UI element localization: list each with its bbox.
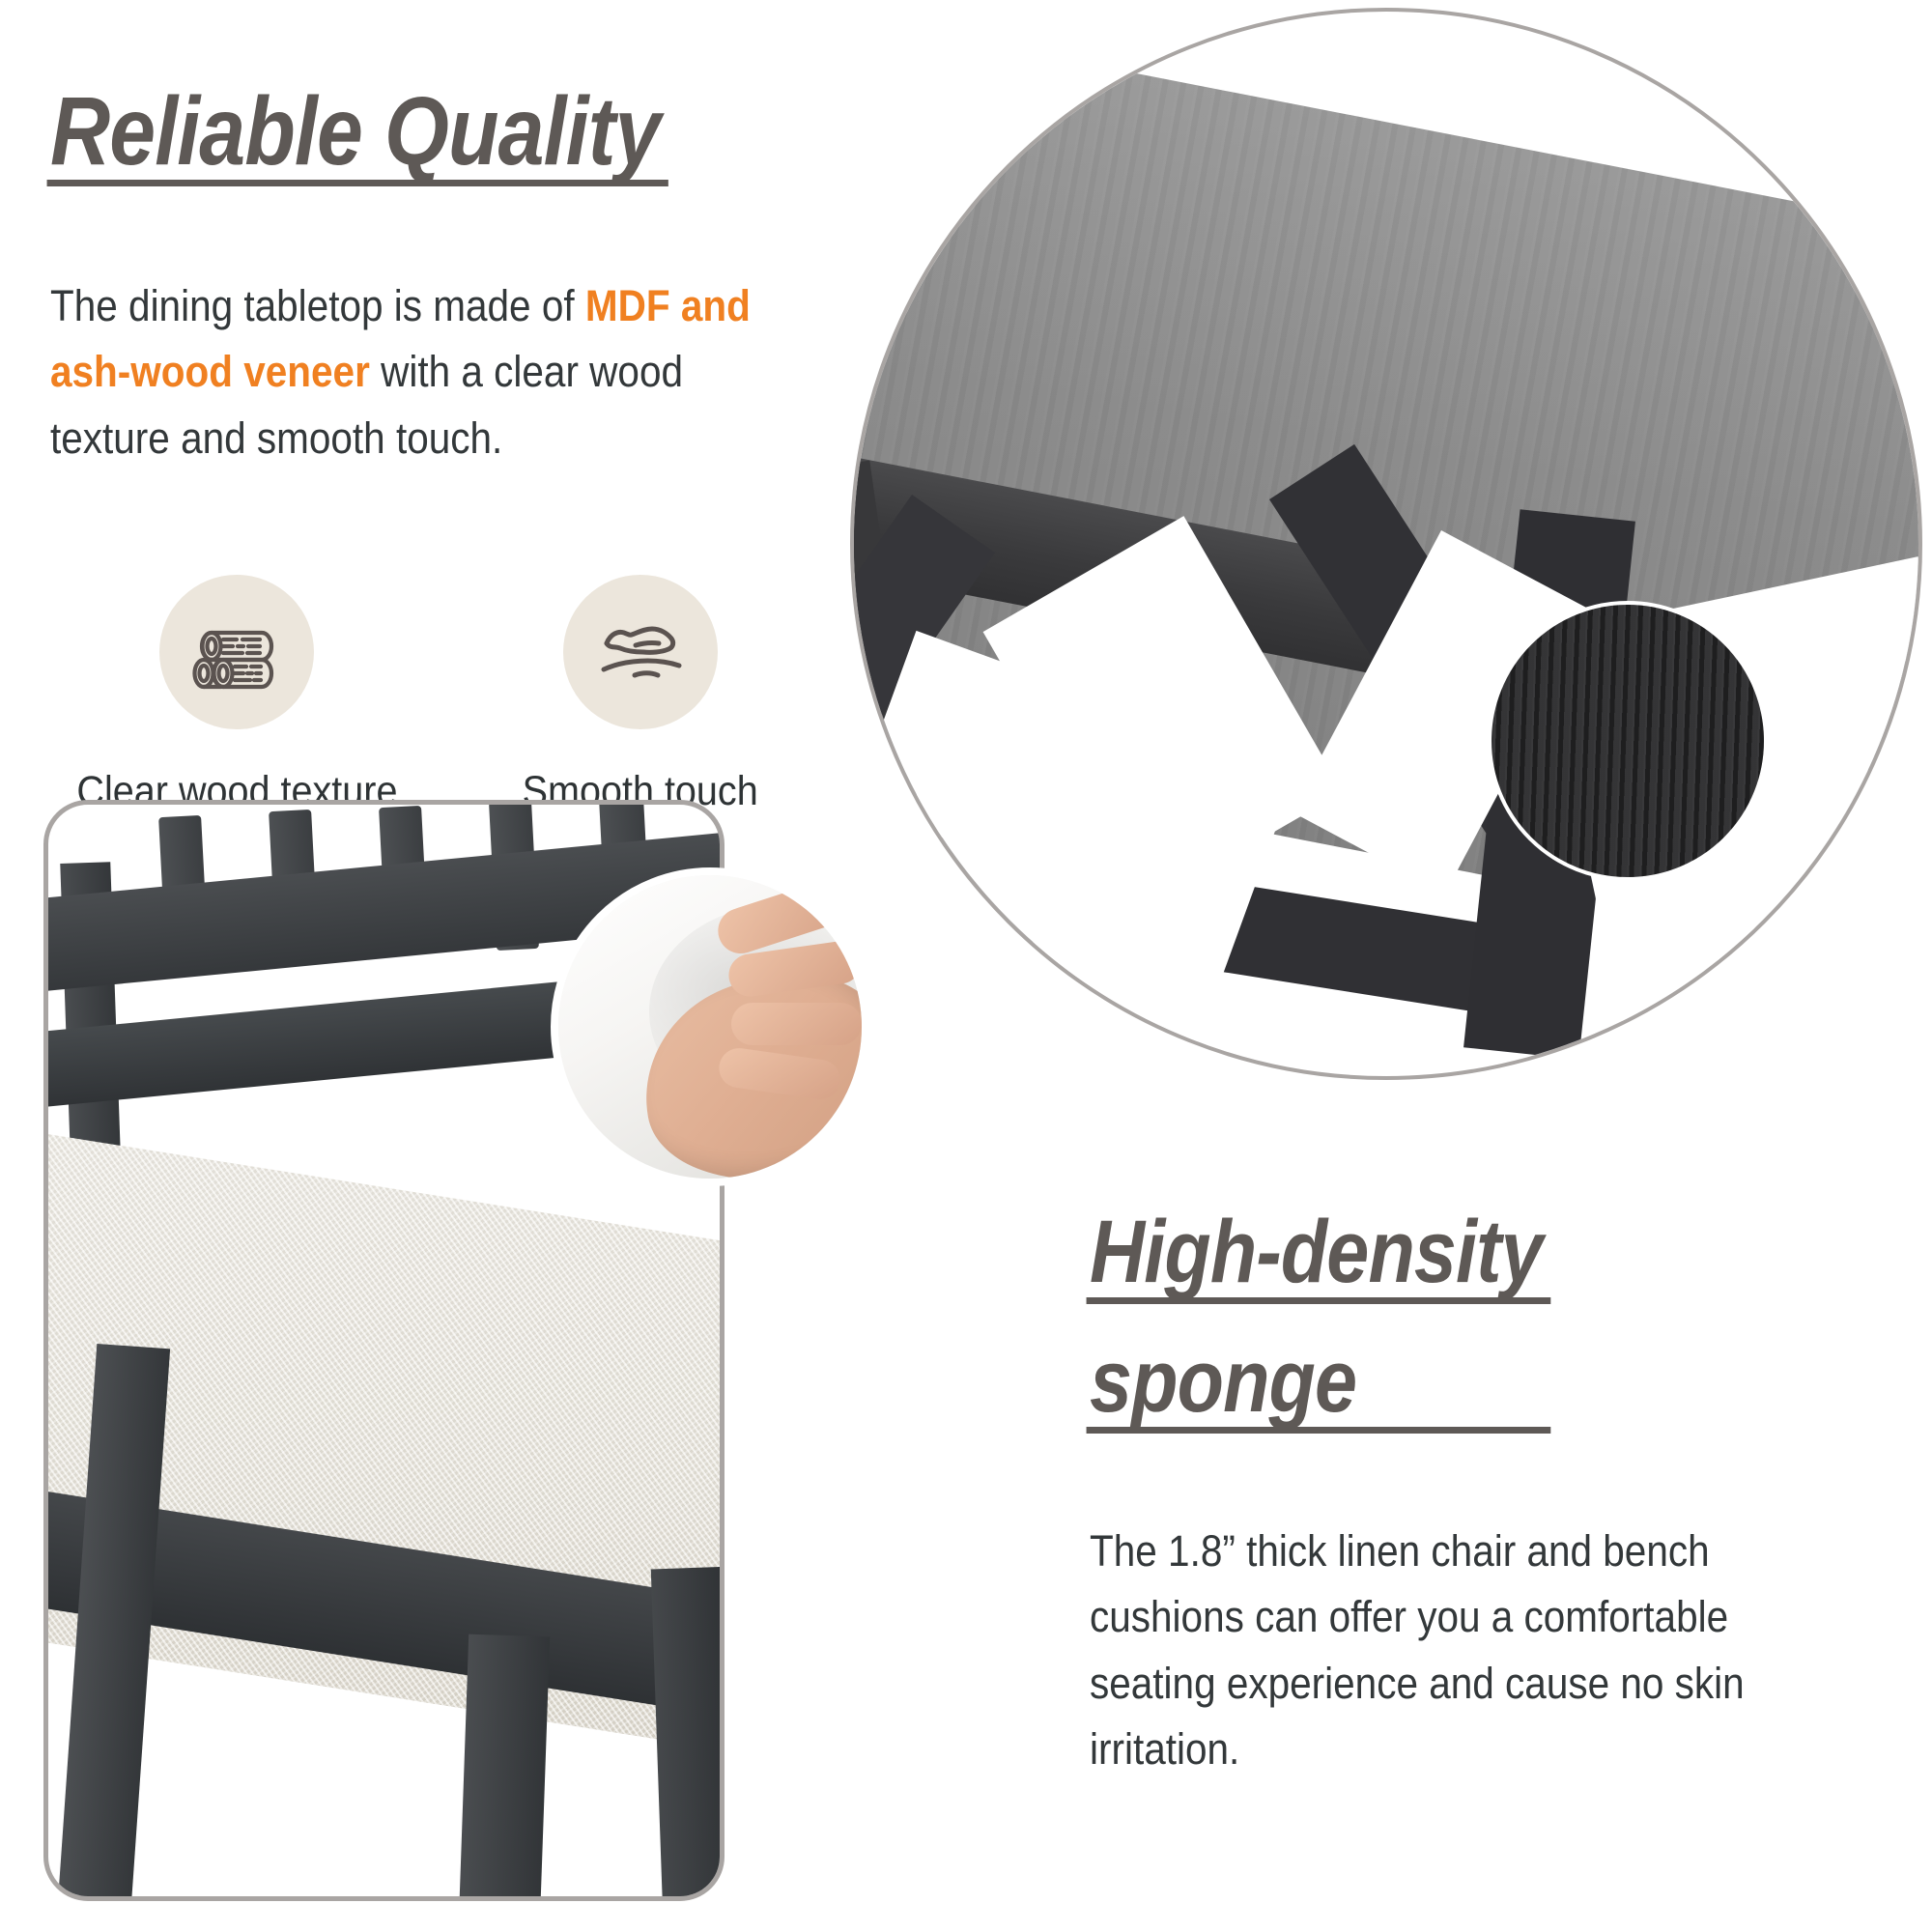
feature-icon-row: Clear wood texture Smooth [145, 575, 732, 815]
feature-icon-badge [159, 575, 314, 729]
reliable-quality-heading-text: Reliable Quality [50, 82, 660, 181]
high-density-sponge-heading: High-density sponge [1090, 1207, 1543, 1466]
reliable-quality-heading: Reliable Quality [50, 82, 660, 181]
hand-touch-surface-icon [590, 600, 691, 705]
high-density-sponge-heading-line-1: High-density [1090, 1207, 1543, 1298]
feature-icon-badge [563, 575, 718, 729]
hand-pressing-sponge-inset [551, 867, 869, 1186]
feature-clear-wood-texture: Clear wood texture [145, 575, 328, 815]
reliable-quality-paragraph: The dining tabletop is made of MDF and a… [50, 273, 772, 471]
log-stack-icon [186, 600, 287, 705]
dining-table-corner-photo [850, 8, 1922, 1080]
infographic-canvas: Reliable Quality The dining tabletop is … [0, 0, 1932, 1932]
paragraph-part-1: The dining tabletop is made of [50, 281, 585, 330]
high-density-sponge-paragraph: The 1.8” thick linen chair and bench cus… [1090, 1519, 1820, 1783]
feature-smooth-touch: Smooth touch [549, 575, 732, 815]
high-density-sponge-heading-line-2: sponge [1090, 1337, 1543, 1428]
wood-grain-closeup-inset [1488, 601, 1768, 881]
